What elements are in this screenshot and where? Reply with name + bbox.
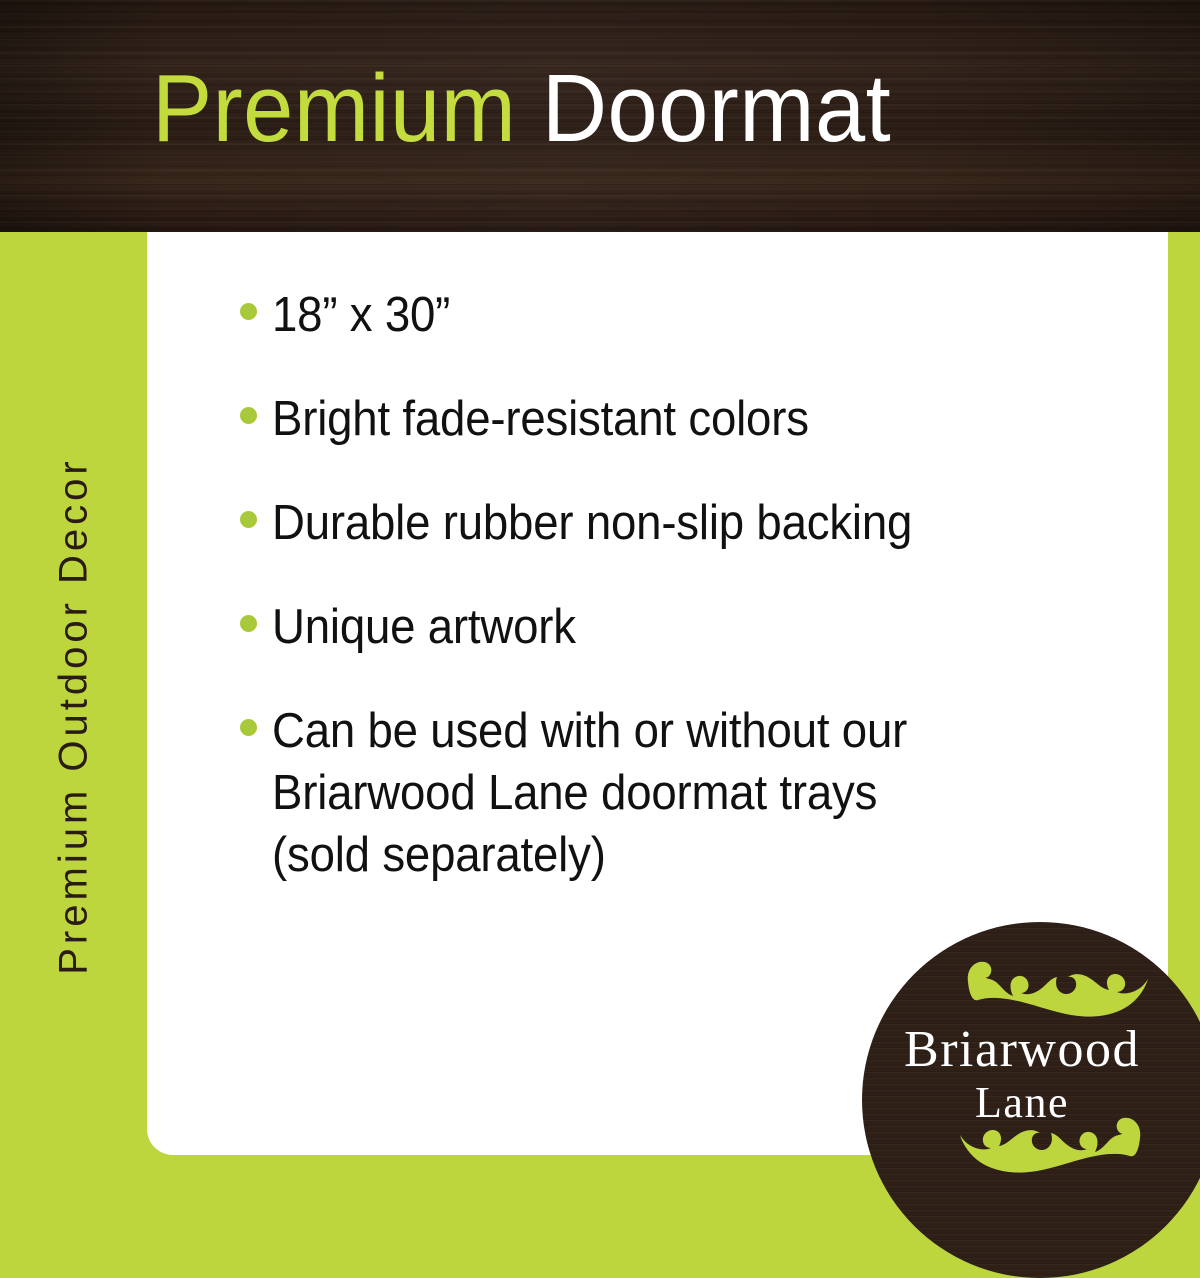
list-item: Can be used with or without our Briarwoo… xyxy=(240,700,1100,886)
page-title: Premium Doormat xyxy=(152,61,891,157)
brand-name: Briarwood Lane xyxy=(862,1022,1182,1128)
page-title-spacer xyxy=(516,55,542,162)
feature-list: 18” x 30” Bright fade-resistant colors D… xyxy=(240,284,1100,886)
list-item-label: Unique artwork xyxy=(272,596,1042,658)
list-item-label: Durable rubber non-slip backing xyxy=(272,492,1042,554)
list-item-label: Can be used with or without our Briarwoo… xyxy=(272,700,1042,886)
bullet-dot-icon xyxy=(240,303,257,320)
bullet-dot-icon xyxy=(240,511,257,528)
list-item: Bright fade-resistant colors xyxy=(240,388,1100,450)
brand-name-line2: Lane xyxy=(862,1078,1182,1128)
bullet-dot-icon xyxy=(240,407,257,424)
sidebar: Premium Outdoor Decor xyxy=(0,232,147,1200)
page-title-highlight: Premium xyxy=(152,55,516,162)
list-item-label: 18” x 30” xyxy=(272,284,1042,346)
brand-logo-inner: Briarwood Lane xyxy=(862,922,1200,1278)
bullet-dot-icon xyxy=(240,615,257,632)
sidebar-vertical-label: Premium Outdoor Decor xyxy=(51,457,96,974)
list-item-label: Bright fade-resistant colors xyxy=(272,388,1042,450)
brand-name-line1: Briarwood xyxy=(862,1022,1182,1078)
bullet-dot-icon xyxy=(240,719,257,736)
list-item: Unique artwork xyxy=(240,596,1100,658)
brand-logo-badge: Briarwood Lane xyxy=(862,922,1200,1278)
page-title-rest: Doormat xyxy=(542,55,891,162)
list-item: 18” x 30” xyxy=(240,284,1100,346)
leaf-flourish-icon xyxy=(958,952,1148,1024)
list-item: Durable rubber non-slip backing xyxy=(240,492,1100,554)
header-banner: Premium Doormat xyxy=(0,0,1200,232)
